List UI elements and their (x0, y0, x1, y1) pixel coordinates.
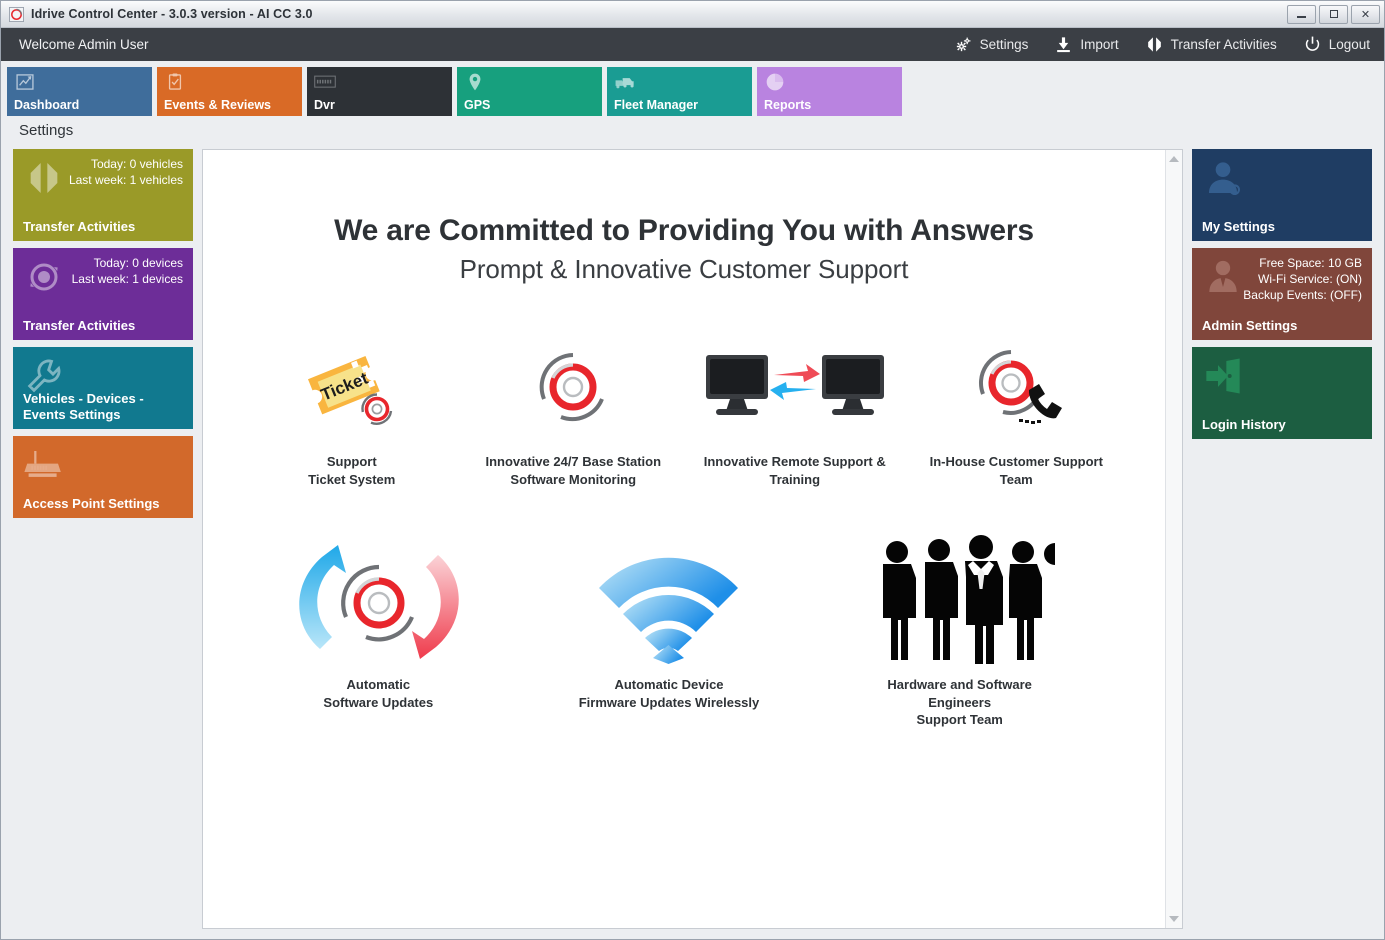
hero-section: We are Committed to Providing You with A… (203, 150, 1165, 285)
feature-art: Ticket (299, 333, 404, 441)
content-canvas: We are Committed to Providing You with A… (203, 150, 1165, 928)
tab-fleet-manager[interactable]: Fleet Manager (607, 67, 752, 116)
tile-stat-line: Backup Events: (OFF) (1202, 288, 1362, 304)
content-headline: We are Committed to Providing You with A… (203, 214, 1165, 248)
menu-item-transfer-activities[interactable]: Transfer Activities (1145, 35, 1277, 54)
tile-stat-line: Wi-Fi Service: (ON) (1202, 272, 1362, 288)
transfer-icon (1145, 35, 1164, 54)
tab-dvr[interactable]: Dvr (307, 67, 452, 116)
tab-gps[interactable]: GPS (457, 67, 602, 116)
tab-label-reports: Reports (764, 98, 811, 112)
content-panel: We are Committed to Providing You with A… (202, 149, 1183, 929)
welcome-message: Welcome Admin User (19, 37, 149, 52)
tile-admin-settings[interactable]: Free Space: 10 GB Wi-Fi Service: (ON) Ba… (1192, 248, 1372, 340)
feature-device-firmware-updates: Automatic Device Firmware Updates Wirele… (524, 524, 815, 729)
tile-label: My Settings (1202, 219, 1362, 234)
tile-label: Vehicles - Devices - Events Settings (23, 391, 183, 422)
tile-vehicles-devices-events-settings[interactable]: Vehicles - Devices - Events Settings (13, 347, 193, 429)
menu-label-import: Import (1080, 37, 1118, 52)
login-door-icon (1202, 356, 1244, 396)
app-logo-icon (9, 7, 24, 22)
top-menu-bar: Welcome Admin User (1, 28, 1384, 61)
wifi-icon (591, 546, 746, 664)
base-station-logo-icon (533, 347, 613, 427)
vehicles-icon (614, 72, 636, 92)
tab-label-fleet-manager: Fleet Manager (614, 98, 698, 112)
feature-caption: Innovative Remote Support & Training (704, 453, 886, 488)
tab-events-reviews[interactable]: Events & Reviews (157, 67, 302, 116)
wrench-icon (23, 356, 65, 396)
tile-login-history[interactable]: Login History (1192, 347, 1372, 439)
feature-caption: Automatic Software Updates (323, 676, 433, 711)
feature-art (700, 333, 890, 441)
features-row-1: Ticket Support Ticket System (203, 333, 1165, 488)
feature-art (286, 524, 471, 664)
window-controls: ✕ (1287, 5, 1380, 24)
chart-line-icon (14, 72, 36, 92)
left-sidebar: Today: 0 vehicles Last week: 1 vehicles … (13, 149, 193, 929)
scroll-down-icon[interactable] (1169, 916, 1179, 922)
close-button[interactable]: ✕ (1351, 5, 1380, 24)
page-body: Today: 0 vehicles Last week: 1 vehicles … (1, 149, 1384, 939)
feature-automatic-software-updates: Automatic Software Updates (233, 524, 524, 729)
menu-label-settings: Settings (980, 37, 1029, 52)
scroll-up-icon[interactable] (1169, 156, 1179, 162)
feature-caption: Innovative 24/7 Base Station Software Mo… (485, 453, 661, 488)
feature-caption: Hardware and Software Engineers Support … (857, 676, 1062, 729)
menu-item-import[interactable]: Import (1054, 35, 1118, 54)
tile-label: Transfer Activities (23, 219, 183, 234)
tile-label: Admin Settings (1202, 318, 1362, 333)
feature-art (591, 524, 746, 664)
title-bar: Idrive Control Center - 3.0.3 version - … (1, 1, 1384, 28)
main-nav-tabs: Dashboard Events & Reviews Dvr (1, 61, 1384, 116)
content-subhead: Prompt & Innovative Customer Support (203, 254, 1165, 285)
support-ticket-icon: Ticket (299, 337, 404, 437)
engineers-team-icon (865, 534, 1055, 664)
tile-transfer-activities-devices[interactable]: Today: 0 devices Last week: 1 devices Tr… (13, 248, 193, 340)
feature-in-house-support-team: In-House Customer Support Team (906, 333, 1128, 488)
phone-support-icon (969, 343, 1064, 431)
tile-my-settings[interactable]: My Settings (1192, 149, 1372, 241)
feature-art (865, 524, 1055, 664)
tile-label: Login History (1202, 417, 1362, 432)
top-menu: Settings Import (954, 35, 1370, 54)
menu-item-settings[interactable]: Settings (954, 35, 1029, 54)
software-update-icon (286, 539, 471, 664)
features-row-2: Automatic Software Updates (203, 524, 1165, 729)
right-sidebar: My Settings Free Space: 10 GB Wi-Fi Serv… (1192, 149, 1372, 929)
tile-access-point-settings[interactable]: Access Point Settings (13, 436, 193, 518)
tab-label-dvr: Dvr (314, 98, 335, 112)
tile-stat-line: Today: 0 vehicles (23, 157, 183, 173)
tab-label-dashboard: Dashboard (14, 98, 79, 112)
user-settings-icon (1202, 158, 1244, 198)
tile-stat-line: Last week: 1 devices (23, 272, 183, 288)
tile-stats: Today: 0 devices Last week: 1 devices (23, 256, 183, 288)
tile-label: Transfer Activities (23, 318, 183, 333)
pie-chart-icon (764, 72, 786, 92)
tile-stat-line: Today: 0 devices (23, 256, 183, 272)
remote-monitors-icon (700, 347, 890, 427)
tab-reports[interactable]: Reports (757, 67, 902, 116)
feature-art (533, 333, 613, 441)
clipboard-check-icon (164, 72, 186, 92)
feature-caption: In-House Customer Support Team (930, 453, 1103, 488)
feature-caption: Automatic Device Firmware Updates Wirele… (579, 676, 760, 711)
menu-item-logout[interactable]: Logout (1303, 35, 1370, 54)
feature-engineers-support-team: Hardware and Software Engineers Support … (814, 524, 1105, 729)
dvr-device-icon (314, 72, 336, 92)
tab-label-events-reviews: Events & Reviews (164, 98, 271, 112)
tab-label-gps: GPS (464, 98, 490, 112)
router-icon (23, 445, 65, 485)
feature-remote-support-training: Innovative Remote Support & Training (684, 333, 906, 488)
menu-label-transfer-activities: Transfer Activities (1171, 37, 1277, 52)
app-window: Idrive Control Center - 3.0.3 version - … (0, 0, 1385, 940)
tile-stat-line: Free Space: 10 GB (1202, 256, 1362, 272)
download-icon (1054, 35, 1073, 54)
power-icon (1303, 35, 1322, 54)
gears-icon (954, 35, 973, 54)
feature-support-ticket-system: Ticket Support Ticket System (241, 333, 463, 488)
tab-dashboard[interactable]: Dashboard (7, 67, 152, 116)
feature-caption: Support Ticket System (308, 453, 395, 488)
content-scrollbar[interactable] (1165, 150, 1182, 928)
minimize-button[interactable] (1287, 5, 1316, 24)
menu-label-logout: Logout (1329, 37, 1370, 52)
window-title: Idrive Control Center - 3.0.3 version - … (31, 7, 313, 21)
page-title: Settings (1, 116, 1384, 149)
map-pin-icon (464, 72, 486, 92)
tile-stat-line: Last week: 1 vehicles (23, 173, 183, 189)
tile-transfer-activities-vehicles[interactable]: Today: 0 vehicles Last week: 1 vehicles … (13, 149, 193, 241)
tile-stats: Today: 0 vehicles Last week: 1 vehicles (23, 157, 183, 189)
feature-art (969, 333, 1064, 441)
feature-base-station-monitoring: Innovative 24/7 Base Station Software Mo… (463, 333, 685, 488)
tile-label: Access Point Settings (23, 496, 183, 511)
tile-stats: Free Space: 10 GB Wi-Fi Service: (ON) Ba… (1202, 256, 1362, 303)
maximize-button[interactable] (1319, 5, 1348, 24)
